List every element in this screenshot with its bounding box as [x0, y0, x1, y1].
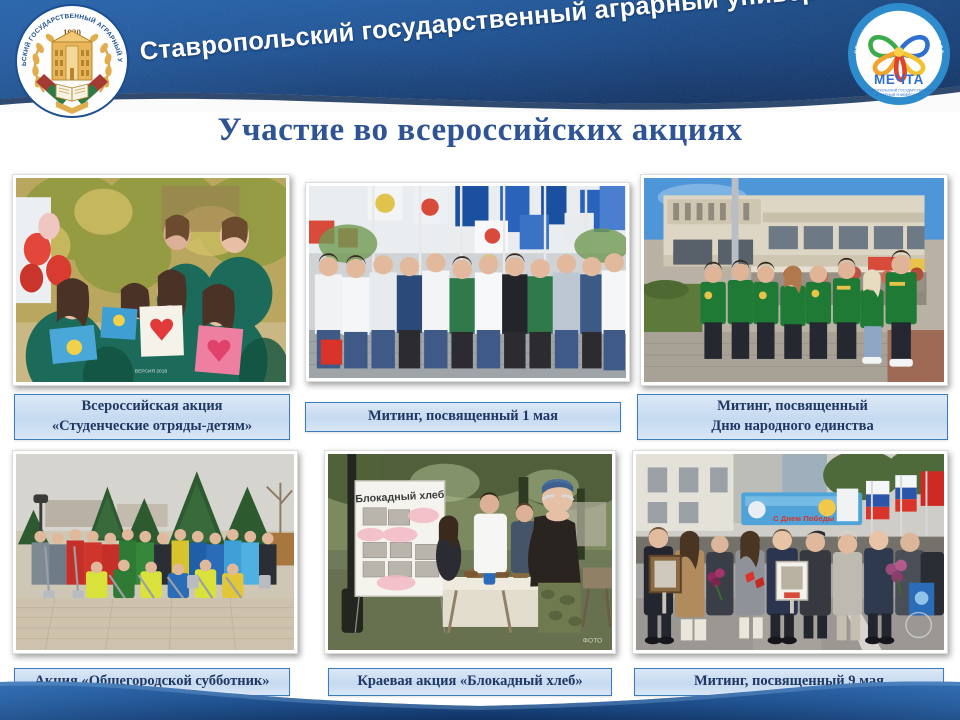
- svg-text:АГРАРНЫЙ УНИВЕРСИТЕТ: АГРАРНЫЙ УНИВЕРСИТЕТ: [876, 93, 923, 97]
- photo-canvas: [309, 186, 626, 378]
- svg-text:ФОТО: ФОТО: [583, 637, 603, 644]
- caption-may-day-rally: Митинг, посвященный 1 мая: [305, 402, 621, 432]
- caption-text: Митинг, посвященный 1 мая: [312, 407, 614, 427]
- caption-text: Всероссийская акция «Студенческие отряды…: [21, 397, 283, 436]
- photo-canvas: ВЕРСИЯ 2018: [16, 178, 286, 382]
- slide-root: Ставропольский государственный аграрный …: [0, 0, 960, 720]
- photo-canvas: С Днем Победы: [636, 454, 944, 650]
- photo-victory-day-rally[interactable]: С Днем Победы: [632, 450, 948, 654]
- caption-text: Митинг, посвященный Дню народного единст…: [644, 397, 941, 436]
- svg-text:МЕЧТА: МЕЧТА: [874, 72, 924, 87]
- caption-student-squads-for-children: Всероссийская акция «Студенческие отряды…: [14, 394, 290, 440]
- caption-national-unity-day-rally: Митинг, посвященный Дню народного единст…: [637, 394, 948, 440]
- photo-citywide-subbotnik[interactable]: [12, 450, 298, 654]
- photo-canvas: [644, 178, 944, 382]
- photo-may-day-rally[interactable]: [305, 182, 630, 382]
- svg-text:ВЕРСИЯ 2018: ВЕРСИЯ 2018: [135, 368, 168, 374]
- footer-wave: [0, 674, 960, 720]
- photo-canvas: [16, 454, 294, 650]
- photo-canvas: Блокадный хлеб: [328, 454, 612, 650]
- mechta-logo-icon: СТУДЕНЧЕСКИЙ ВОЖАТСКИЙ ОТРЯД МЕЧТА СТАВР…: [843, 2, 955, 110]
- university-emblem-icon: СТАВРОПОЛЬСКИЙ ГОСУДАРСТВЕННЫЙ АГРАРНЫЙ …: [10, 2, 134, 120]
- svg-text:С Днем Победы: С Днем Победы: [773, 514, 835, 523]
- page-title: Участие во всероссийских акциях: [0, 112, 960, 149]
- svg-text:СТАВРОПОЛЬСКИЙ ГОСУДАРСТВЕННЫЙ: СТАВРОПОЛЬСКИЙ ГОСУДАРСТВЕННЫЙ: [864, 89, 935, 93]
- photo-blockade-bread[interactable]: Блокадный хлеб: [324, 450, 616, 654]
- photo-national-unity-day-rally[interactable]: [640, 174, 948, 386]
- header-banner: [0, 0, 960, 112]
- photo-student-squads-for-children[interactable]: ВЕРСИЯ 2018: [12, 174, 290, 386]
